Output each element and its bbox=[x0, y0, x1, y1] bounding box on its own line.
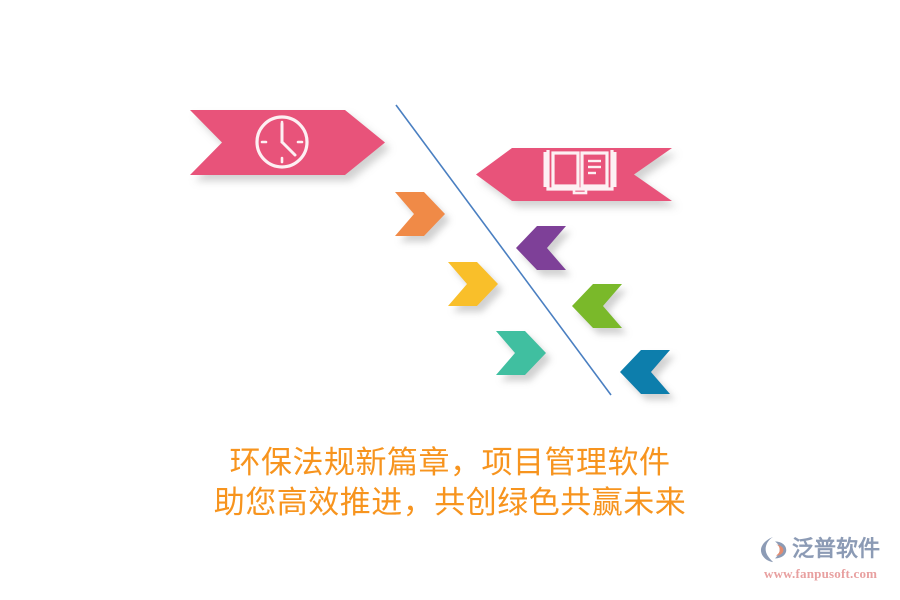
chevron-purple bbox=[516, 226, 566, 270]
chevron-teal bbox=[496, 331, 546, 375]
headline-text: 环保法规新篇章，项目管理软件 助您高效推进，共创绿色共赢未来 bbox=[0, 443, 900, 524]
logo-url: www.fanpusoft.com bbox=[764, 566, 892, 582]
poster-canvas: 环保法规新篇章，项目管理软件 助您高效推进，共创绿色共赢未来 泛普软件 www.… bbox=[0, 0, 900, 600]
logo-row: 泛普软件 bbox=[760, 533, 892, 565]
fanpu-logo[interactable]: 泛普软件 www.fanpusoft.com bbox=[760, 533, 892, 585]
logo-brand-name: 泛普软件 bbox=[792, 534, 880, 564]
chevron-green bbox=[572, 284, 622, 328]
chevron-blue bbox=[620, 350, 670, 394]
fanpu-mark-icon bbox=[760, 534, 790, 564]
headline-line-2: 助您高效推进，共创绿色共赢未来 bbox=[0, 483, 900, 523]
chevron-orange bbox=[395, 192, 445, 236]
headline-line-1: 环保法规新篇章，项目管理软件 bbox=[0, 443, 900, 483]
clock-icon bbox=[257, 117, 307, 167]
chevron-yellow bbox=[448, 262, 498, 306]
